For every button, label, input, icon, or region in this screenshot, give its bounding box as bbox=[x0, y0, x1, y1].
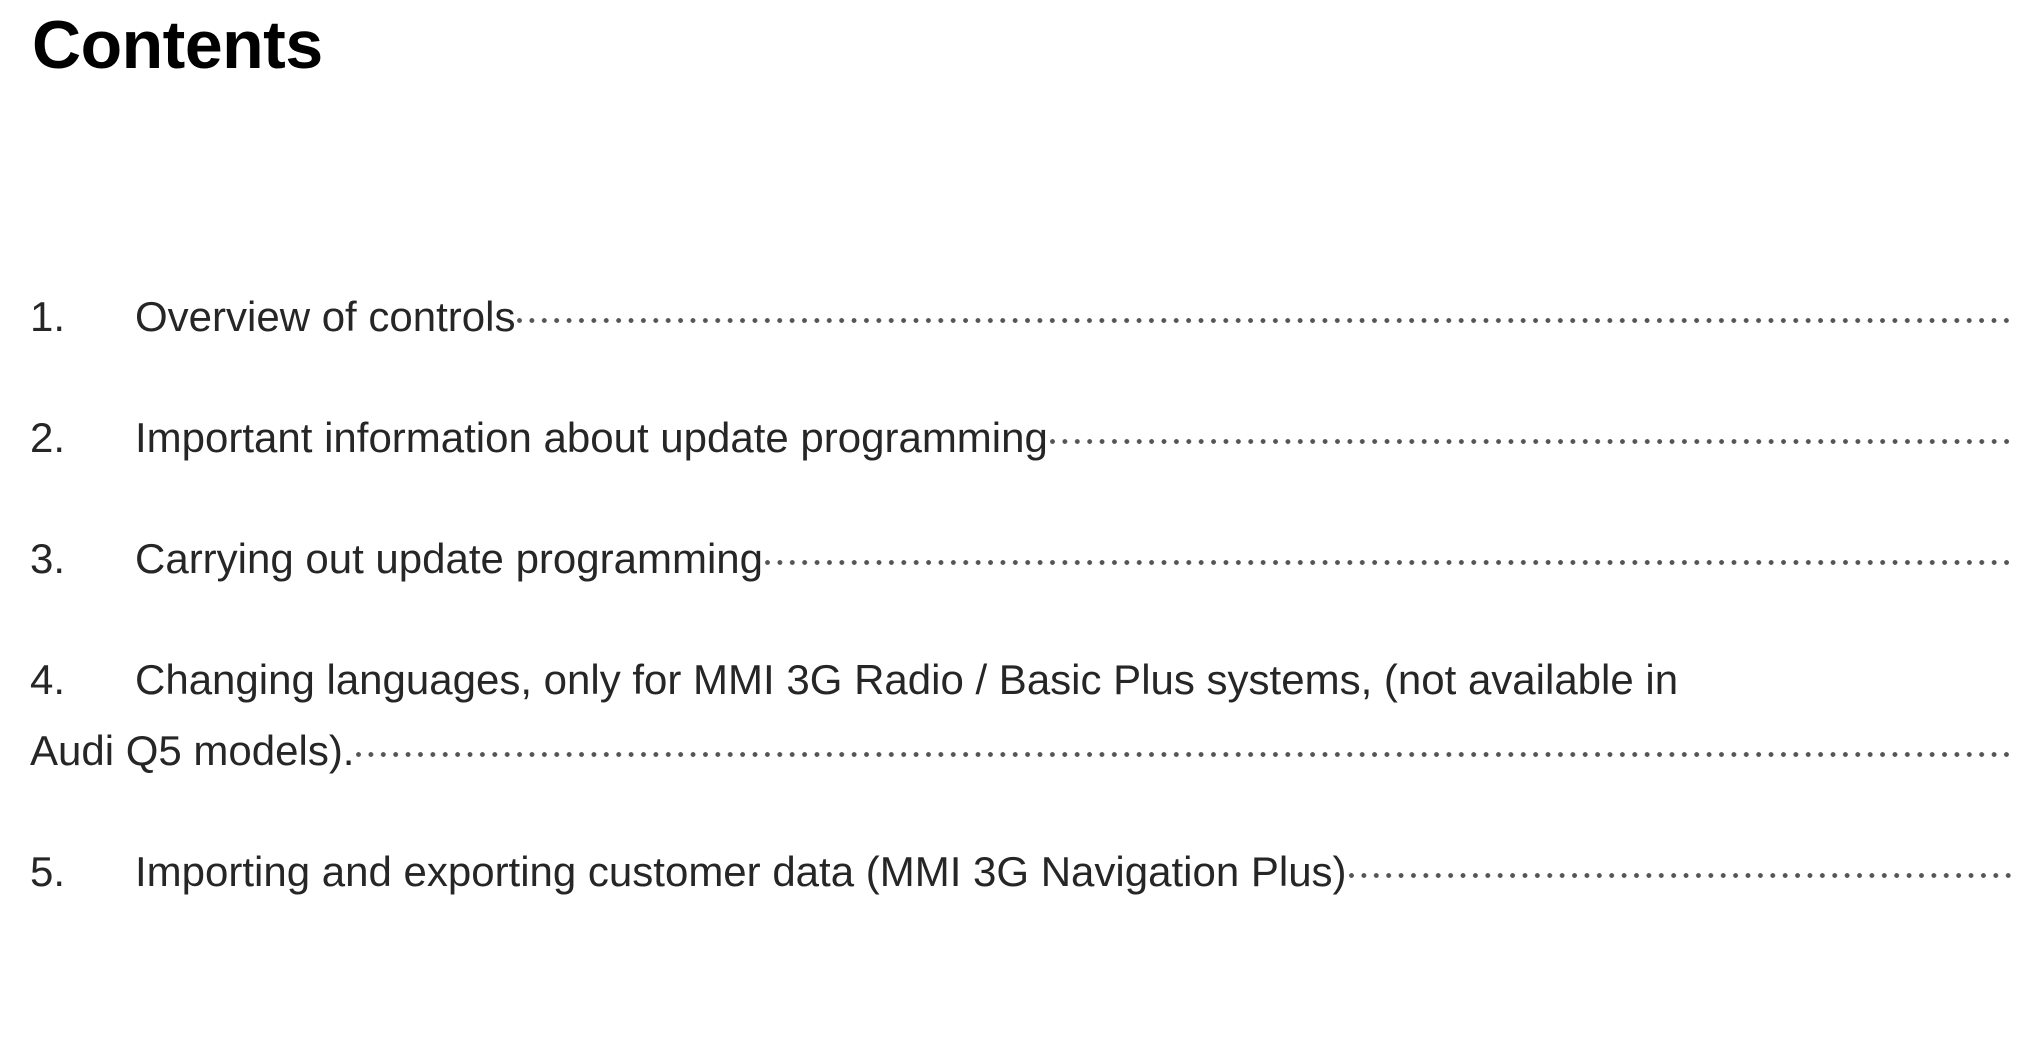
toc-entry-title: Importing and exporting customer data (M… bbox=[135, 841, 1347, 903]
document-page: Contents 1. Overview of controls 2. Impo… bbox=[0, 0, 2017, 1039]
toc-entry[interactable]: 3. Carrying out update programming bbox=[0, 528, 2017, 590]
dot-leader bbox=[356, 723, 2011, 765]
toc-entry-line: 4. Changing languages, only for MMI 3G R… bbox=[0, 649, 2017, 711]
toc-entry[interactable]: 4. Changing languages, only for MMI 3G R… bbox=[0, 649, 2017, 782]
toc-entry-number: 3. bbox=[30, 528, 135, 590]
toc-entry-line-continued: Audi Q5 models). bbox=[0, 720, 2017, 782]
toc-entry-title-continued: Audi Q5 models). bbox=[30, 720, 354, 782]
toc-entry-line: 2. Important information about update pr… bbox=[0, 407, 2017, 469]
toc-entry-title: Overview of controls bbox=[135, 286, 515, 348]
toc-entry-line: 3. Carrying out update programming bbox=[0, 528, 2017, 590]
toc-entry-number: 4. bbox=[30, 649, 135, 711]
toc-entry-number: 2. bbox=[30, 407, 135, 469]
page-title: Contents bbox=[32, 8, 323, 83]
toc-entry-number: 1. bbox=[30, 286, 135, 348]
toc-entry-number: 5. bbox=[30, 841, 135, 903]
toc-entry-line: 5. Importing and exporting customer data… bbox=[0, 841, 2017, 903]
toc-entry[interactable]: 2. Important information about update pr… bbox=[0, 407, 2017, 469]
dot-leader bbox=[517, 289, 2011, 331]
toc-entry-title: Important information about update progr… bbox=[135, 407, 1048, 469]
dot-leader bbox=[1050, 410, 2011, 452]
table-of-contents: 1. Overview of controls 2. Important inf… bbox=[0, 286, 2017, 962]
toc-entry-line: 1. Overview of controls bbox=[0, 286, 2017, 348]
toc-entry[interactable]: 1. Overview of controls bbox=[0, 286, 2017, 348]
dot-leader bbox=[765, 531, 2011, 573]
toc-entry-title: Carrying out update programming bbox=[135, 528, 763, 590]
dot-leader bbox=[1349, 844, 2011, 886]
toc-entry[interactable]: 5. Importing and exporting customer data… bbox=[0, 841, 2017, 903]
toc-entry-title: Changing languages, only for MMI 3G Radi… bbox=[135, 649, 1678, 711]
